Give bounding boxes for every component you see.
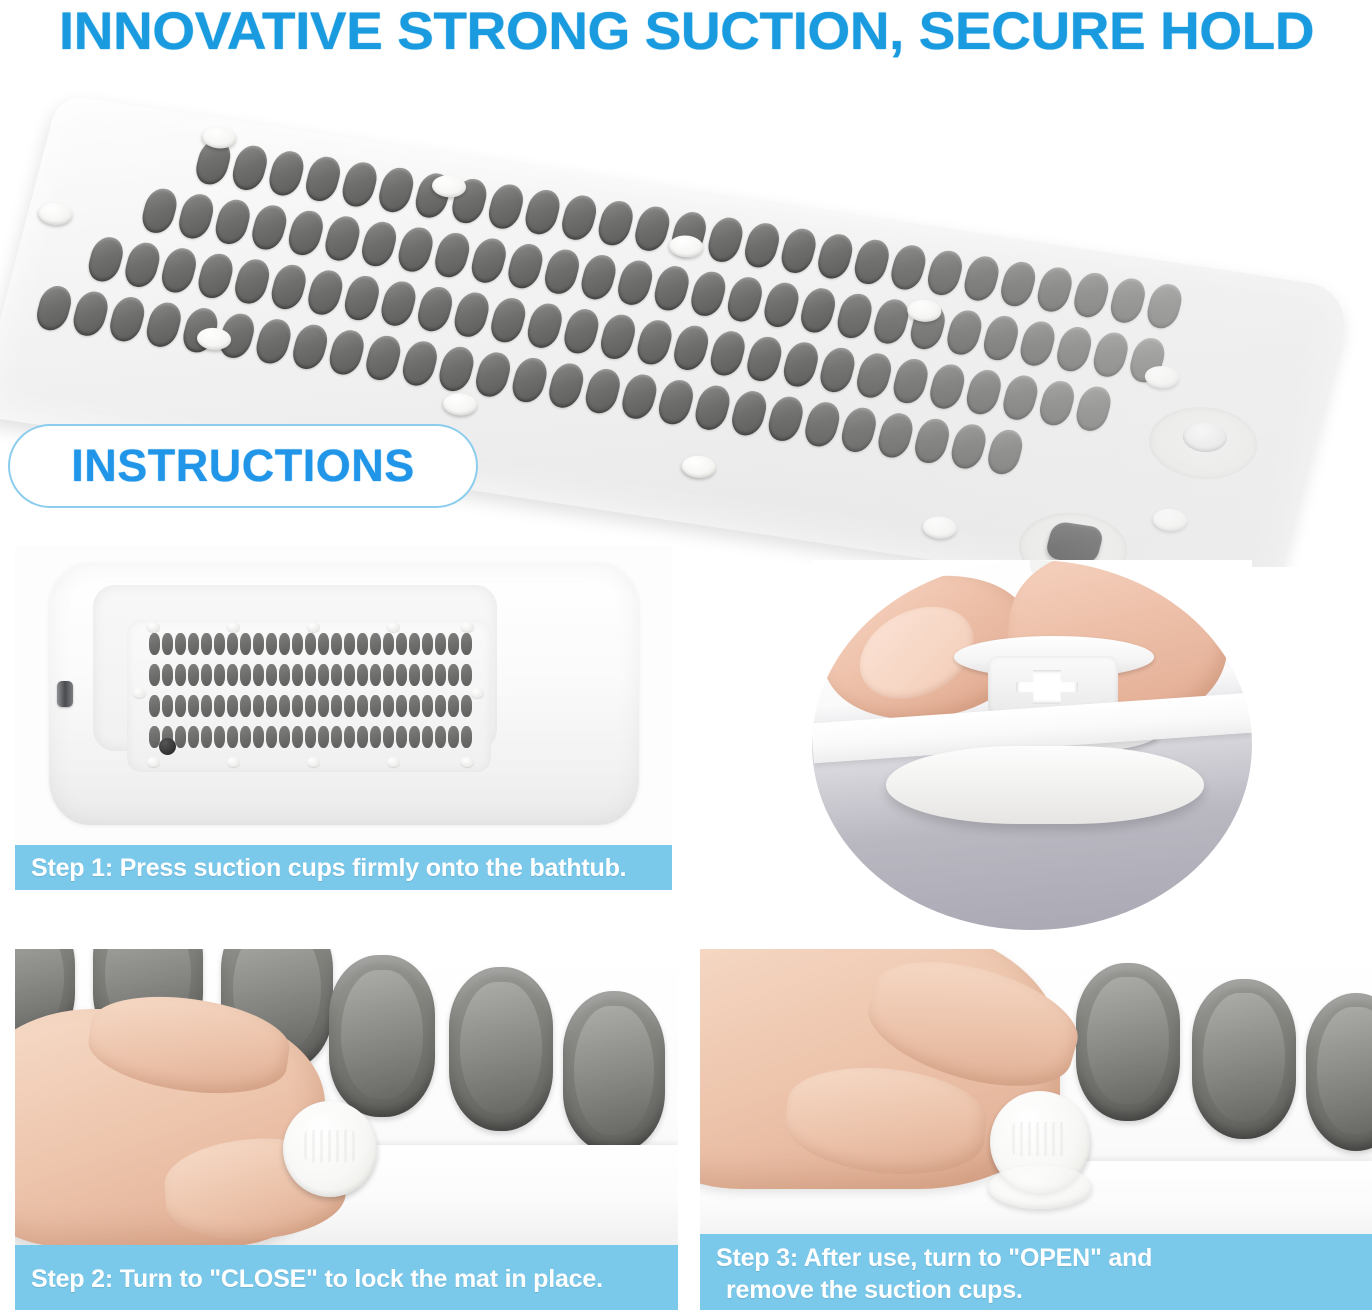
mat-pad bbox=[331, 664, 342, 686]
mat-pad bbox=[227, 664, 238, 686]
mat-pad bbox=[461, 664, 472, 686]
mat-pad bbox=[266, 633, 277, 655]
mat-pad bbox=[292, 726, 303, 748]
traction-pad bbox=[887, 243, 929, 291]
mat-cup bbox=[307, 622, 320, 632]
mat-pad bbox=[292, 633, 303, 655]
mat-pad bbox=[435, 695, 446, 717]
mat-pad bbox=[422, 695, 433, 717]
mat-pad bbox=[305, 664, 316, 686]
traction-pad bbox=[778, 227, 820, 275]
cap-open-label-icon bbox=[1012, 1122, 1068, 1157]
traction-pad bbox=[377, 279, 419, 327]
suction-cup-disc bbox=[988, 1165, 1092, 1209]
traction-pad bbox=[321, 214, 363, 262]
traction-pad bbox=[595, 199, 637, 247]
mat-pad bbox=[422, 726, 433, 748]
step-3-panel: Step 3: After use, turn to "OPEN" and re… bbox=[700, 949, 1372, 1310]
mat-pad bbox=[344, 726, 355, 748]
traction-pad bbox=[545, 361, 587, 409]
traction-pad bbox=[670, 324, 712, 372]
traction-pad bbox=[435, 345, 477, 393]
mat-pad bbox=[253, 664, 264, 686]
mat-pad-row bbox=[149, 695, 472, 717]
step-2-panel: Step 2: Turn to "CLOSE" to lock the mat … bbox=[15, 949, 678, 1310]
mat-pad bbox=[448, 664, 459, 686]
traction-pad bbox=[1143, 282, 1185, 330]
mat-pad bbox=[253, 695, 264, 717]
mat-pad bbox=[422, 633, 433, 655]
mat-pad bbox=[149, 633, 160, 655]
mat-pad bbox=[201, 726, 212, 748]
mat-pad bbox=[357, 726, 368, 748]
traction-pad bbox=[618, 372, 660, 420]
mat-pad bbox=[188, 695, 199, 717]
mat-pad bbox=[292, 695, 303, 717]
traction-pad bbox=[175, 192, 217, 240]
mat-pad bbox=[214, 633, 225, 655]
mat-pad bbox=[461, 726, 472, 748]
traction-pad bbox=[143, 301, 185, 349]
mat-pad bbox=[448, 726, 459, 748]
step-1-caption-line: Step 1: Press suction cups firmly onto t… bbox=[31, 852, 672, 884]
traction-pad bbox=[85, 235, 127, 283]
traction-pad bbox=[106, 295, 148, 343]
mat-cup bbox=[471, 688, 484, 698]
mat-pad bbox=[383, 726, 394, 748]
mat-pad bbox=[344, 664, 355, 686]
suction-cup-closeup-photo bbox=[812, 560, 1252, 930]
mat-pad bbox=[448, 633, 459, 655]
traction-pad bbox=[999, 373, 1041, 421]
mat-pad bbox=[227, 726, 238, 748]
mat-pad bbox=[279, 726, 290, 748]
traction-pad bbox=[801, 400, 843, 448]
mat-pad bbox=[318, 633, 329, 655]
step-3-caption: Step 3: After use, turn to "OPEN" and re… bbox=[700, 1234, 1372, 1310]
traction-pad bbox=[997, 260, 1039, 308]
mat-pad bbox=[266, 726, 277, 748]
mat-pad bbox=[370, 664, 381, 686]
traction-pad bbox=[304, 268, 346, 316]
mat-pad bbox=[331, 695, 342, 717]
mat-pad bbox=[396, 664, 407, 686]
mat-pad-row bbox=[149, 726, 472, 748]
mat-pad bbox=[149, 664, 160, 686]
page-title-text: INNOVATIVE STRONG SUCTION, SECURE HOLD bbox=[58, 5, 1313, 58]
instructions-badge-label: INSTRUCTIONS bbox=[71, 440, 415, 492]
bathtub-faucet-icon bbox=[57, 681, 73, 707]
step-1-photo bbox=[15, 546, 672, 845]
traction-pad bbox=[70, 289, 112, 337]
traction-pad bbox=[329, 955, 435, 1117]
mat-pad bbox=[240, 726, 251, 748]
drain-knob bbox=[1179, 420, 1230, 456]
traction-pad bbox=[834, 292, 876, 340]
traction-pad bbox=[1306, 993, 1372, 1151]
traction-pad bbox=[838, 406, 880, 454]
mat-pad bbox=[279, 664, 290, 686]
mat-pad bbox=[292, 664, 303, 686]
suction-cup-cap-close bbox=[283, 1101, 377, 1197]
traction-pad bbox=[485, 182, 527, 230]
traction-pad bbox=[449, 967, 553, 1131]
traction-pad bbox=[760, 281, 802, 329]
mat-pad bbox=[357, 664, 368, 686]
mat-pad bbox=[396, 633, 407, 655]
traction-pad bbox=[362, 334, 404, 382]
mat-cup bbox=[387, 622, 400, 632]
page-title: INNOVATIVE STRONG SUCTION, SECURE HOLD bbox=[0, 0, 1372, 62]
mat-pad bbox=[266, 695, 277, 717]
mat-pad bbox=[344, 695, 355, 717]
mat-pad bbox=[461, 633, 472, 655]
mat-pad bbox=[331, 633, 342, 655]
mat-pad bbox=[305, 633, 316, 655]
mat-pad bbox=[383, 695, 394, 717]
traction-pad bbox=[911, 417, 953, 465]
mat-pad bbox=[279, 695, 290, 717]
traction-pad bbox=[524, 302, 566, 350]
mat-pad bbox=[383, 664, 394, 686]
traction-pad bbox=[265, 149, 307, 197]
traction-pad bbox=[614, 259, 656, 307]
traction-pad bbox=[851, 238, 893, 286]
traction-pad bbox=[326, 328, 368, 376]
mat-pad bbox=[240, 633, 251, 655]
mat-pad bbox=[331, 726, 342, 748]
traction-pad bbox=[509, 356, 551, 404]
mat-pad bbox=[266, 664, 277, 686]
traction-pad bbox=[1076, 963, 1180, 1121]
instructions-badge: INSTRUCTIONS bbox=[8, 424, 478, 508]
traction-pad bbox=[560, 307, 602, 355]
traction-pad bbox=[521, 188, 563, 236]
mat-pad bbox=[175, 726, 186, 748]
suction-cup-closeup-panel bbox=[812, 560, 1252, 930]
traction-pad bbox=[302, 155, 344, 203]
mat-pad bbox=[344, 633, 355, 655]
mat-pad bbox=[357, 633, 368, 655]
mat-pad bbox=[162, 695, 173, 717]
traction-pad bbox=[1017, 319, 1059, 367]
mat-pad bbox=[214, 726, 225, 748]
mat-pad bbox=[318, 726, 329, 748]
traction-pad bbox=[399, 339, 441, 387]
traction-pad bbox=[1034, 265, 1076, 313]
traction-pad bbox=[252, 317, 294, 365]
step-2-caption: Step 2: Turn to "CLOSE" to lock the mat … bbox=[15, 1245, 678, 1310]
traction-pad bbox=[655, 378, 697, 426]
mat-cup bbox=[387, 757, 400, 767]
traction-pad bbox=[1107, 276, 1149, 324]
traction-pad bbox=[582, 367, 624, 415]
traction-pad bbox=[984, 428, 1026, 476]
mat-pad bbox=[214, 664, 225, 686]
mat-pad bbox=[240, 695, 251, 717]
mat-pad bbox=[188, 664, 199, 686]
traction-pad bbox=[797, 286, 839, 334]
traction-pad bbox=[558, 193, 600, 241]
traction-pad bbox=[121, 241, 163, 289]
traction-pad bbox=[468, 236, 510, 284]
traction-pad bbox=[339, 160, 381, 208]
traction-pad bbox=[724, 275, 766, 323]
bathtub-illustration bbox=[49, 563, 639, 825]
mat-pad bbox=[370, 695, 381, 717]
traction-pad bbox=[963, 368, 1005, 416]
traction-pad bbox=[375, 166, 417, 214]
traction-pad bbox=[358, 220, 400, 268]
traction-pad bbox=[870, 297, 912, 345]
traction-pad bbox=[1192, 979, 1296, 1139]
traction-pad bbox=[926, 362, 968, 410]
step-1-panel: Step 1: Press suction cups firmly onto t… bbox=[15, 546, 672, 890]
traction-pad bbox=[341, 274, 383, 322]
mat-pad bbox=[370, 726, 381, 748]
traction-pad bbox=[158, 246, 200, 294]
mat-pad bbox=[162, 633, 173, 655]
mat-pad bbox=[227, 695, 238, 717]
traction-pad bbox=[195, 252, 237, 300]
traction-pad bbox=[890, 357, 932, 405]
mat-pad bbox=[201, 633, 212, 655]
step-3-photo bbox=[700, 949, 1372, 1234]
mat-pad bbox=[461, 695, 472, 717]
traction-pad bbox=[578, 253, 620, 301]
traction-pad bbox=[743, 335, 785, 383]
bathtub-basin bbox=[93, 585, 497, 751]
mat-pad bbox=[435, 633, 446, 655]
step-3-caption-line: remove the suction cups. bbox=[716, 1274, 1372, 1306]
traction-pad bbox=[853, 351, 895, 399]
traction-pad bbox=[980, 314, 1022, 362]
traction-pad bbox=[1053, 325, 1095, 373]
traction-pad bbox=[687, 270, 729, 318]
mat-pad bbox=[279, 633, 290, 655]
mat-in-bathtub bbox=[127, 620, 491, 772]
mat-pad-row bbox=[149, 633, 472, 655]
traction-pad bbox=[138, 187, 180, 235]
traction-pad bbox=[1070, 271, 1112, 319]
traction-pad bbox=[504, 242, 546, 290]
step-2-caption-line: Step 2: Turn to "CLOSE" to lock the mat … bbox=[31, 1263, 678, 1295]
mat-pad bbox=[357, 695, 368, 717]
traction-pad bbox=[472, 350, 514, 398]
mat-pad bbox=[383, 633, 394, 655]
mat-pad bbox=[240, 664, 251, 686]
traction-pad bbox=[285, 209, 327, 257]
mat-cup bbox=[227, 757, 240, 767]
mat-pad bbox=[175, 664, 186, 686]
mat-pad bbox=[422, 664, 433, 686]
traction-pad bbox=[948, 422, 990, 470]
traction-pad bbox=[765, 395, 807, 443]
traction-pad bbox=[395, 225, 437, 273]
mat-pad bbox=[396, 726, 407, 748]
traction-pad bbox=[814, 232, 856, 280]
mat-pad bbox=[188, 726, 199, 748]
mat-cup bbox=[461, 757, 474, 767]
traction-pad bbox=[541, 247, 583, 295]
mat-cup bbox=[307, 757, 320, 767]
mat-pad bbox=[175, 633, 186, 655]
traction-pad bbox=[563, 991, 665, 1153]
mat-pad bbox=[188, 633, 199, 655]
traction-pad bbox=[229, 144, 271, 192]
mat-pad bbox=[409, 726, 420, 748]
mat-cup bbox=[461, 622, 474, 632]
mat-pad bbox=[409, 695, 420, 717]
mat-pad bbox=[305, 695, 316, 717]
traction-pad bbox=[651, 264, 693, 312]
mat-pad bbox=[162, 664, 173, 686]
traction-pad bbox=[431, 231, 473, 279]
mat-pad bbox=[318, 695, 329, 717]
traction-pad bbox=[704, 216, 746, 264]
mat-cup bbox=[147, 622, 160, 632]
mat-pad bbox=[175, 695, 186, 717]
traction-pad bbox=[728, 389, 770, 437]
traction-pad bbox=[780, 340, 822, 388]
mat-cup bbox=[147, 757, 160, 767]
traction-pad bbox=[289, 323, 331, 371]
traction-pad bbox=[631, 204, 673, 252]
traction-pad bbox=[1090, 330, 1132, 378]
mat-pad bbox=[201, 695, 212, 717]
mat-cup bbox=[227, 622, 240, 632]
step-3-caption-line: Step 3: After use, turn to "OPEN" and bbox=[716, 1242, 1372, 1274]
traction-pad bbox=[741, 221, 783, 269]
traction-pad bbox=[33, 284, 75, 332]
drain-knob bbox=[1044, 521, 1105, 566]
traction-pad bbox=[1073, 385, 1115, 433]
mat-pad bbox=[305, 726, 316, 748]
mat-pad bbox=[253, 633, 264, 655]
mat-pad bbox=[409, 664, 420, 686]
traction-pad bbox=[874, 411, 916, 459]
mat-pad bbox=[253, 726, 264, 748]
traction-pad bbox=[248, 203, 290, 251]
traction-pad bbox=[487, 296, 529, 344]
mat-pad bbox=[435, 726, 446, 748]
mat-drain-dark bbox=[159, 738, 176, 755]
traction-pad bbox=[231, 257, 273, 305]
traction-pad bbox=[634, 318, 676, 366]
mat-pad bbox=[201, 664, 212, 686]
traction-pad bbox=[268, 263, 310, 311]
traction-pad bbox=[924, 249, 966, 297]
traction-pad bbox=[816, 346, 858, 394]
traction-pad bbox=[707, 329, 749, 377]
mat-pad bbox=[409, 633, 420, 655]
suction-cup-base bbox=[886, 746, 1204, 824]
step-1-caption: Step 1: Press suction cups firmly onto t… bbox=[15, 845, 672, 890]
mat-pad bbox=[149, 695, 160, 717]
step-2-photo bbox=[15, 949, 678, 1245]
mat-pad bbox=[318, 664, 329, 686]
cap-close-label-icon bbox=[304, 1130, 357, 1163]
traction-pad bbox=[597, 313, 639, 361]
mat-pad bbox=[435, 664, 446, 686]
traction-pad bbox=[691, 384, 733, 432]
mat-pad bbox=[396, 695, 407, 717]
mat-pad bbox=[227, 633, 238, 655]
traction-pad bbox=[212, 198, 254, 246]
traction-pad bbox=[961, 254, 1003, 302]
infographic-page: INNOVATIVE STRONG SUCTION, SECURE HOLD bbox=[0, 0, 1372, 1310]
mat-pad bbox=[214, 695, 225, 717]
cup-lock-slot bbox=[1016, 670, 1078, 704]
mat-pad bbox=[370, 633, 381, 655]
mat-pad bbox=[448, 695, 459, 717]
traction-pad bbox=[414, 285, 456, 333]
traction-pad bbox=[943, 308, 985, 356]
mat-pad-row bbox=[149, 664, 472, 686]
mat-cup bbox=[133, 688, 146, 698]
traction-pad bbox=[1036, 379, 1078, 427]
traction-pad bbox=[451, 290, 493, 338]
